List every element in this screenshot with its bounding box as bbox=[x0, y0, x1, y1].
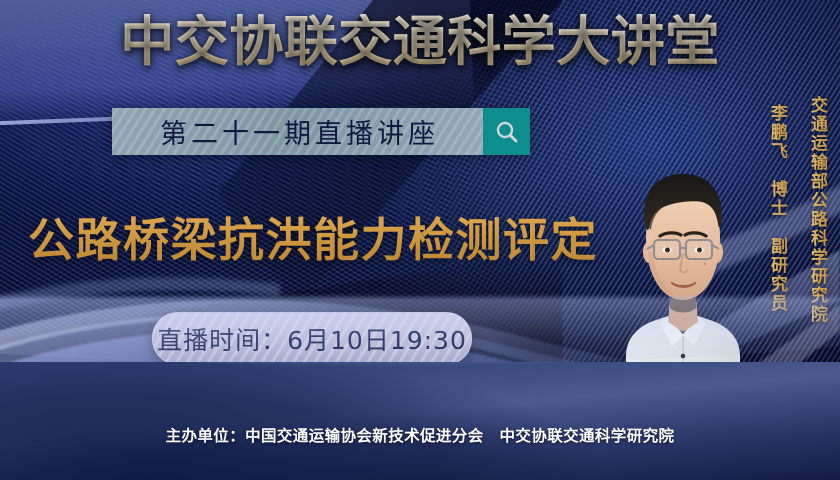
search-icon-box[interactable] bbox=[483, 108, 530, 155]
speaker-affiliation: 交通运输部公路科学研究院 bbox=[805, 96, 830, 324]
footer-band bbox=[0, 362, 840, 480]
search-icon bbox=[494, 119, 520, 145]
page-title: 中交协联交通科学大讲堂 bbox=[0, 14, 840, 71]
series-bar: 第二十一期直播讲座 bbox=[112, 108, 530, 155]
series-label: 第二十一期直播讲座 bbox=[156, 112, 439, 151]
organizers-line: 主办单位：中国交通运输协会新技术促进分会 中交协联交通科学研究院 bbox=[0, 424, 840, 446]
live-lecture-poster: 中交协联交通科学大讲堂 第二十一期直播讲座 公路桥梁抗洪能力检测评定 直播时间：… bbox=[0, 0, 840, 480]
lecture-headline: 公路桥梁抗洪能力检测评定 bbox=[28, 204, 598, 270]
series-label-container: 第二十一期直播讲座 bbox=[112, 108, 483, 155]
speaker-name-title: 李鹏飞 博士 副研究员 bbox=[765, 104, 790, 313]
